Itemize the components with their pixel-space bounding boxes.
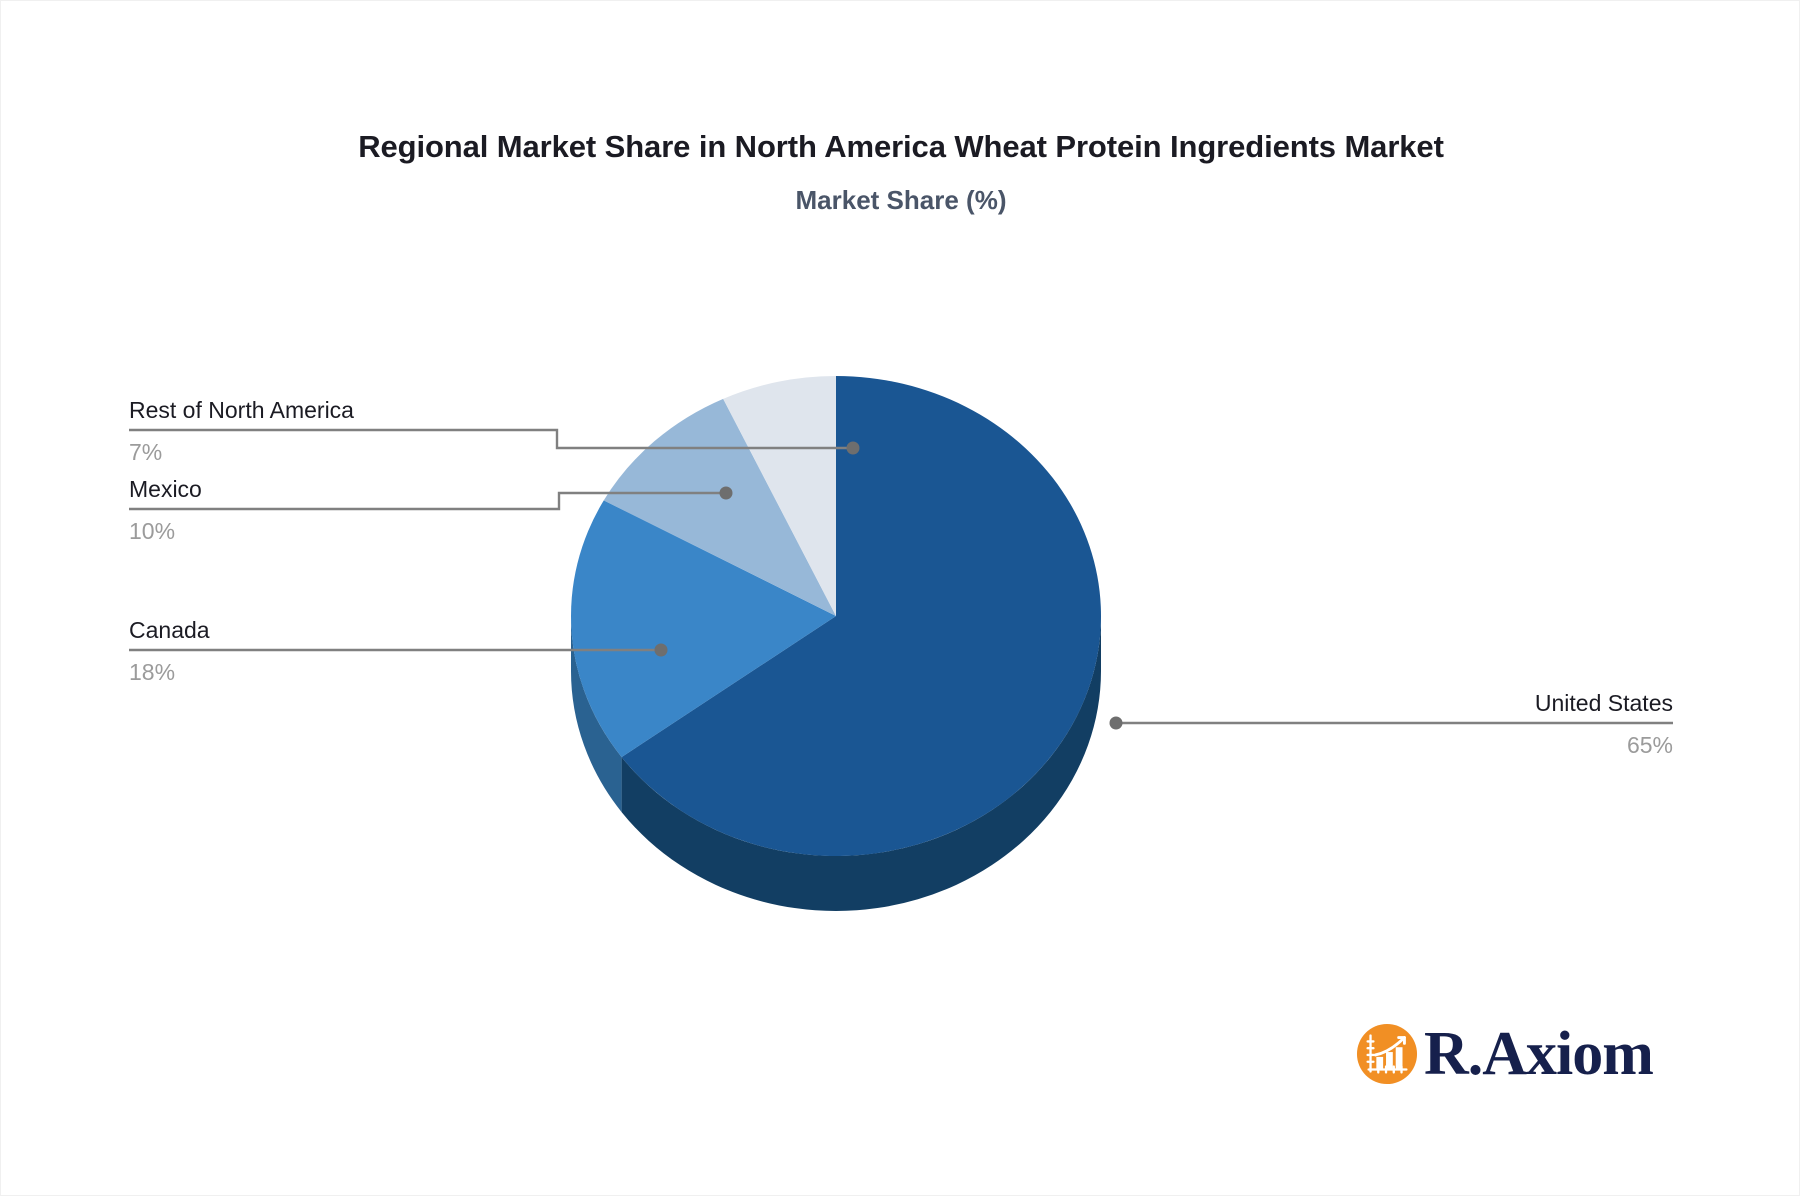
logo-wordmark: R.Axiom	[1424, 1023, 1653, 1085]
callout-label-canada: Canada	[129, 619, 210, 642]
callout-label-rest-of-north-america: Rest of North America	[129, 399, 354, 422]
chart-canvas: Regional Market Share in North America W…	[0, 0, 1800, 1196]
callout-value-united-states: 65%	[1173, 734, 1673, 757]
brand-logo: R.Axiom	[1356, 1023, 1653, 1085]
pie-chart-plot	[1, 1, 1800, 1197]
leader-dot-rest-of-north-america	[847, 442, 860, 455]
callout-label-united-states: United States	[1173, 692, 1673, 715]
bar-chart-circle-icon	[1356, 1023, 1418, 1085]
callout-value-mexico: 10%	[129, 520, 175, 543]
leader-dot-canada	[655, 644, 668, 657]
leader-dot-united-states	[1110, 717, 1123, 730]
leader-dot-mexico	[720, 487, 733, 500]
callout-value-canada: 18%	[129, 661, 175, 684]
callout-value-rest-of-north-america: 7%	[129, 441, 162, 464]
callout-label-mexico: Mexico	[129, 478, 202, 501]
